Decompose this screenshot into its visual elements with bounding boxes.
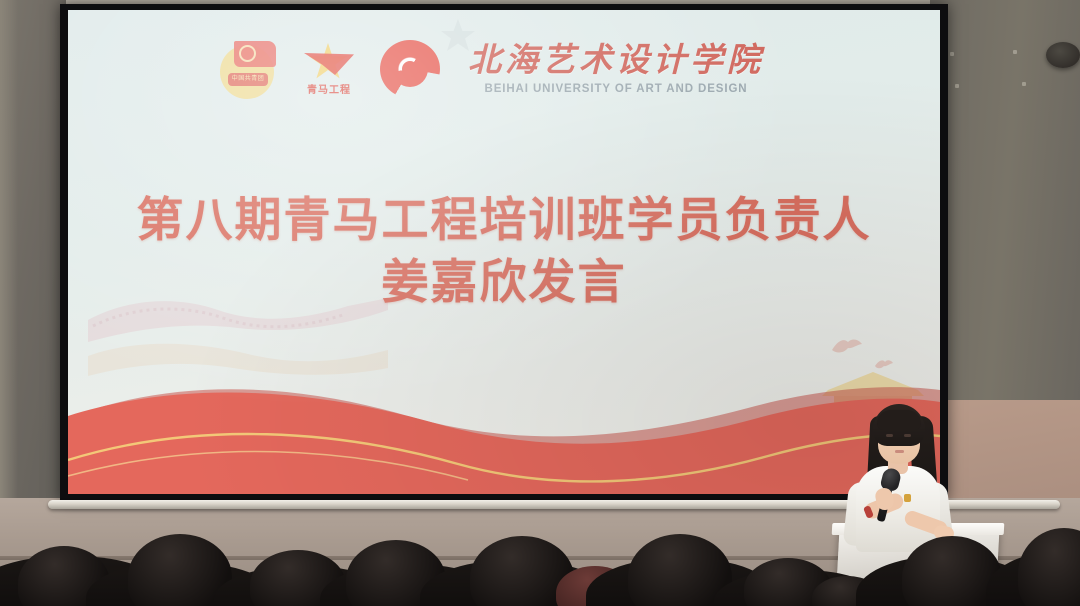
speaker-mouth	[895, 450, 904, 453]
qm-flag-icon	[304, 53, 354, 75]
audience-row	[0, 498, 1080, 606]
wall-mark	[1022, 82, 1026, 86]
university-name-cn: 北海艺术设计学院	[468, 45, 764, 78]
emblem-ribbon-text: 中国共青团	[228, 73, 268, 86]
speaker-eye-left	[886, 434, 893, 437]
university-name-en: BEIHAI UNIVERSITY OF ART AND DESIGN	[468, 83, 764, 95]
slide-title: 第八期青马工程培训班学员负责人 姜嘉欣发言	[108, 190, 900, 314]
speaker-bangs	[877, 410, 921, 430]
projection-screen-frame: 中国共青团 青马工程 北海艺术设计学院 BEIHAI UNIVERSITY OF…	[60, 4, 948, 502]
ceiling-fixture-icon	[1046, 42, 1080, 68]
audience-head	[1018, 528, 1080, 606]
lecture-hall-photo: 中国共青团 青马工程 北海艺术设计学院 BEIHAI UNIVERSITY OF…	[0, 0, 1080, 606]
speaker-eye-right	[904, 434, 911, 437]
young-marxist-project-logo-icon: 青马工程	[298, 39, 360, 101]
wall-mark	[950, 52, 954, 56]
qm-caption: 青马工程	[298, 81, 360, 96]
left-concrete-wall	[0, 0, 66, 530]
wall-mark	[955, 84, 959, 88]
beihai-university-logo-icon	[378, 38, 444, 102]
slide-title-line-2: 姜嘉欣发言	[108, 252, 900, 314]
wall-mark	[1013, 50, 1017, 54]
emblem-ribbon: 中国共青团	[228, 73, 268, 86]
university-name-block: 北海艺术设计学院 BEIHAI UNIVERSITY OF ART AND DE…	[468, 45, 764, 95]
communist-youth-league-emblem-icon: 中国共青团	[218, 39, 280, 101]
university-swirl-icon	[380, 40, 440, 98]
projection-screen: 中国共青团 青马工程 北海艺术设计学院 BEIHAI UNIVERSITY OF…	[68, 10, 940, 494]
gold-accent-curve	[68, 364, 940, 494]
emblem-star-icon	[239, 45, 256, 62]
slide-title-line-1: 第八期青马工程培训班学员负责人	[108, 190, 900, 252]
slide-logo-row: 中国共青团 青马工程 北海艺术设计学院 BEIHAI UNIVERSITY OF…	[218, 38, 764, 102]
